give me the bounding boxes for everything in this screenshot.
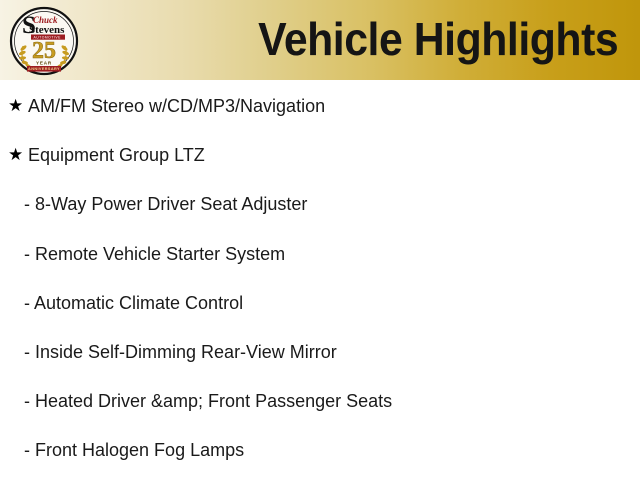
highlight-sub-item: - 8-Way Power Driver Seat Adjuster [0, 190, 640, 218]
svg-text:Stevens: Stevens [29, 24, 65, 36]
highlight-sub-item: - Automatic Climate Control [0, 289, 640, 317]
chuck-stevens-anniversary-logo: S Chuck Stevens AUTOMOTIVE [9, 6, 79, 76]
highlight-item-label: AM/FM Stereo w/CD/MP3/Navigation [28, 95, 325, 117]
highlight-sub-item-label: - Inside Self-Dimming Rear-View Mirror [24, 341, 337, 363]
highlight-sub-item-label: - Heated Driver &amp; Front Passenger Se… [24, 390, 392, 412]
highlight-sub-item: - Front Halogen Fog Lamps [0, 436, 640, 464]
highlight-sub-item: - Inside Self-Dimming Rear-View Mirror [0, 338, 640, 366]
highlight-sub-item: - Heated Driver &amp; Front Passenger Se… [0, 387, 640, 415]
star-bullet-icon: ★ [8, 97, 28, 115]
page-title: Vehicle Highlights [258, 8, 618, 70]
highlight-item-label: Equipment Group LTZ [28, 144, 205, 166]
star-bullet-icon: ★ [8, 146, 28, 164]
highlights-list: ★AM/FM Stereo w/CD/MP3/Navigation★Equipm… [0, 80, 640, 480]
logo-badge-svg: S Chuck Stevens AUTOMOTIVE [9, 6, 79, 76]
highlight-sub-item-label: - 8-Way Power Driver Seat Adjuster [24, 193, 307, 215]
highlight-sub-item-label: - Automatic Climate Control [24, 292, 243, 314]
highlight-item: ★AM/FM Stereo w/CD/MP3/Navigation [0, 92, 640, 120]
highlight-sub-item: - Remote Vehicle Starter System [0, 240, 640, 268]
highlight-sub-item-label: - Remote Vehicle Starter System [24, 243, 285, 265]
slide-header: S Chuck Stevens AUTOMOTIVE [0, 0, 640, 80]
svg-text:YEAR: YEAR [36, 61, 52, 66]
svg-text:ANNIVERSARY: ANNIVERSARY [28, 67, 60, 71]
highlight-item: ★Equipment Group LTZ [0, 141, 640, 169]
highlight-sub-item-label: - Front Halogen Fog Lamps [24, 439, 244, 461]
